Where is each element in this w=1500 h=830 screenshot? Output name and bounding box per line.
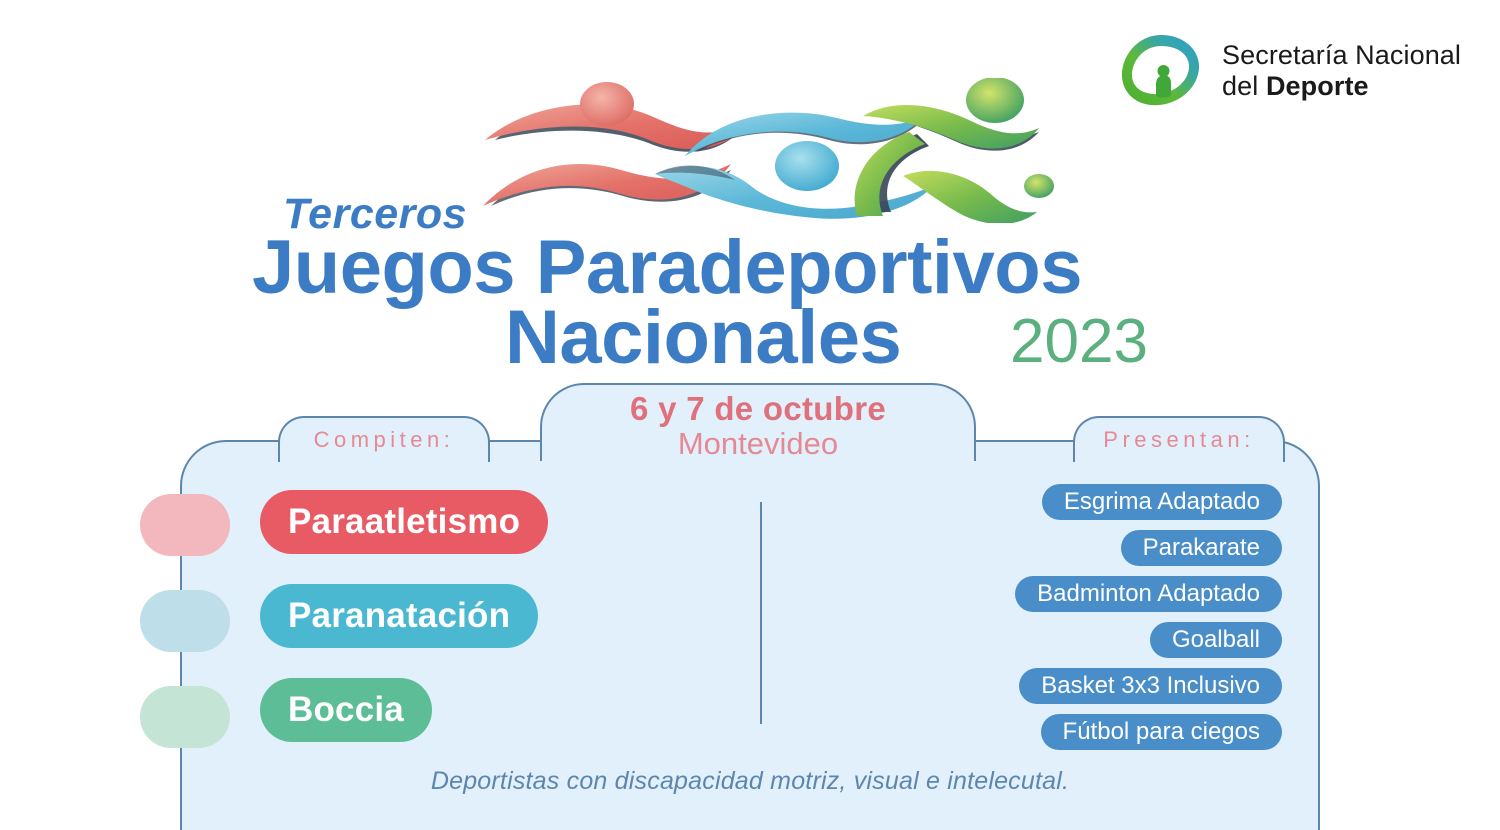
presenting-sport-label: Parakarate bbox=[1143, 534, 1260, 562]
competing-sport-pill[interactable]: Paraatletismo bbox=[260, 490, 548, 554]
secretaria-line1: Secretaría Nacional bbox=[1222, 40, 1461, 71]
presenting-sports-list: Esgrima Adaptado Parakarate Badminton Ad… bbox=[802, 484, 1282, 750]
compiten-label: Compiten: bbox=[314, 427, 455, 453]
presenting-sport-pill[interactable]: Fútbol para ciegos bbox=[1041, 714, 1282, 750]
page-title: Terceros Juegos Paradeportivos Nacionale… bbox=[0, 182, 1500, 357]
competing-sport-pill[interactable]: Boccia bbox=[260, 678, 432, 742]
secretaria-loop-logo-icon bbox=[1112, 28, 1208, 114]
presenting-sport-label: Badminton Adaptado bbox=[1037, 580, 1260, 608]
presenting-sport-label: Fútbol para ciegos bbox=[1063, 718, 1260, 746]
info-panel: Paraatletismo Paranatación Boccia Esgrim… bbox=[180, 440, 1320, 830]
competing-sport-label: Paraatletismo bbox=[288, 502, 520, 542]
competing-sport-pill[interactable]: Paranatación bbox=[260, 584, 538, 648]
secretaria-line2-thin: del bbox=[1222, 71, 1266, 101]
secretaria-logo: Secretaría Nacional del Deporte bbox=[1112, 28, 1461, 114]
poster-canvas: Secretaría Nacional del Deporte bbox=[0, 0, 1500, 830]
competing-sport-label: Paranatación bbox=[288, 596, 510, 636]
presenting-sport-pill[interactable]: Esgrima Adaptado bbox=[1042, 484, 1282, 520]
compiten-label-bubble: Compiten: bbox=[278, 416, 490, 462]
presenting-sport-pill[interactable]: Parakarate bbox=[1121, 530, 1282, 566]
event-date: 6 y 7 de octubre bbox=[542, 391, 974, 427]
presentan-label: Presentan: bbox=[1103, 427, 1254, 453]
competing-sports-list: Paraatletismo Paranatación Boccia bbox=[260, 490, 660, 742]
event-city: Montevideo bbox=[542, 427, 974, 462]
presenting-sport-pill[interactable]: Basket 3x3 Inclusivo bbox=[1019, 668, 1282, 704]
presentan-label-bubble: Presentan: bbox=[1073, 416, 1285, 462]
presenting-sport-label: Esgrima Adaptado bbox=[1064, 488, 1260, 516]
presenting-sport-label: Goalball bbox=[1172, 626, 1260, 654]
presenting-sport-label: Basket 3x3 Inclusivo bbox=[1041, 672, 1260, 700]
title-year: 2023 bbox=[1010, 306, 1148, 377]
presenting-sport-pill[interactable]: Badminton Adaptado bbox=[1015, 576, 1282, 612]
secretaria-line2-bold: Deporte bbox=[1266, 71, 1369, 101]
date-location-bubble: 6 y 7 de octubre Montevideo bbox=[540, 383, 976, 461]
title-line2: Nacionales bbox=[505, 294, 901, 381]
competing-sport-label: Boccia bbox=[288, 690, 404, 730]
presenting-sport-pill[interactable]: Goalball bbox=[1150, 622, 1282, 658]
column-divider bbox=[760, 502, 762, 724]
eligibility-note: Deportistas con discapacidad motriz, vis… bbox=[182, 767, 1318, 796]
secretaria-logo-text: Secretaría Nacional del Deporte bbox=[1222, 40, 1461, 103]
